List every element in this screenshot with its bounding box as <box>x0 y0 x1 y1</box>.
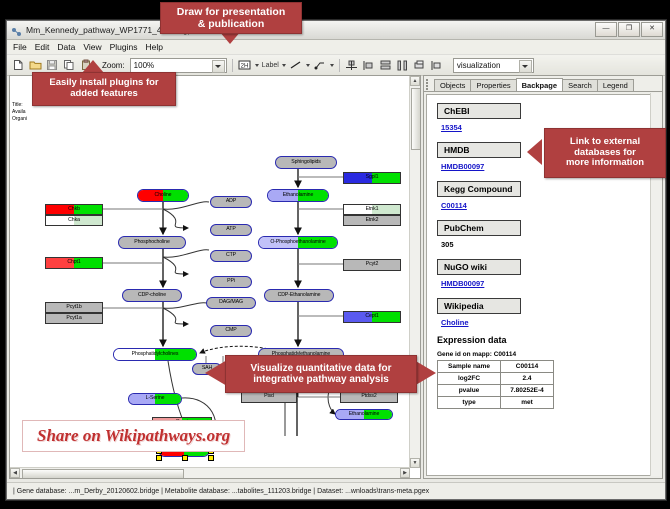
node-label: Sphingolipids <box>291 160 321 165</box>
node-label: CDP-choline <box>138 293 166 298</box>
tab-properties[interactable]: Properties <box>470 79 516 92</box>
node-label: ADP <box>226 199 236 204</box>
horizontal-scroll-thumb[interactable] <box>22 469 184 479</box>
pathway-node-etnk1[interactable]: Etnk1 <box>343 204 401 215</box>
node-label: Pcyt2 <box>366 262 378 267</box>
callout-link: Link to externaldatabases formore inform… <box>544 128 666 178</box>
edge-cofactor-in <box>163 250 209 257</box>
pathway-availability-label: Availa <box>12 109 26 115</box>
node-label: PPi <box>227 279 235 284</box>
callout-visualize: Visualize quantitative data forintegrati… <box>225 355 417 393</box>
order-icon[interactable] <box>430 58 444 72</box>
menu-item-view[interactable]: View <box>83 42 101 52</box>
expr-key-0: Sample name <box>438 361 501 373</box>
pathway-node-l_serine_left[interactable]: L-Serine <box>128 393 182 405</box>
interaction-icon[interactable] <box>313 58 327 72</box>
pathway-node-phosphatidylcholines[interactable]: Phosphatidylcholines <box>113 348 197 361</box>
callout-visualize-arrow-right-icon <box>414 360 436 386</box>
zoom-label: Zoom: <box>102 61 125 70</box>
side-panel-tabs: Objects Properties Backpage Search Legen… <box>424 76 662 92</box>
datanode-icon[interactable]: 2H <box>238 58 252 72</box>
node-label: Ethanolamine <box>283 193 314 198</box>
menu-item-edit[interactable]: Edit <box>35 42 50 52</box>
node-label: L-Serine <box>146 396 165 401</box>
db-link-kegg[interactable]: C00114 <box>441 201 659 210</box>
db-header-chebi: ChEBI <box>437 103 521 119</box>
pathway-node-pcyt2[interactable]: Pcyt2 <box>343 259 401 271</box>
db-header-hmdb: HMDB <box>437 142 521 158</box>
pathway-node-sphingolipids[interactable]: Sphingolipids <box>275 156 337 169</box>
pathway-node-adp[interactable]: ADP <box>210 196 252 208</box>
callout-link-text: Link to externaldatabases formore inform… <box>566 137 644 170</box>
panel-grip[interactable] <box>426 78 430 89</box>
table-row: Sample nameC00114 <box>438 361 554 373</box>
pathway-node-ppi[interactable]: PPi <box>210 276 252 288</box>
label-tool-label[interactable]: Label <box>262 62 279 69</box>
db-value-pubchem: 305 <box>441 240 659 249</box>
db-block-kegg: Kegg Compound C00114 <box>437 179 659 210</box>
menu-item-data[interactable]: Data <box>57 42 75 52</box>
pathway-node-ethanolamine_top[interactable]: Ethanolamine <box>267 189 329 202</box>
node-label: Chkb <box>68 207 80 212</box>
node-label: Ptdss2 <box>361 394 376 399</box>
expression-table: Sample nameC00114 log2FC2.4 pvalue7.8025… <box>437 360 554 409</box>
pathway-node-cept1[interactable]: Cept1 <box>343 311 401 323</box>
pathway-organism-label: Organi <box>12 116 27 122</box>
callout-link-arrow-icon <box>527 139 542 165</box>
pathway-title-label: Title: <box>12 102 23 108</box>
node-label: DAG/MAG <box>219 300 243 305</box>
node-label: Cept1 <box>365 314 378 319</box>
pathway-node-ethanolamine_bottom[interactable]: Ethanolamine <box>335 409 393 420</box>
tab-search[interactable]: Search <box>562 79 598 92</box>
pathway-node-cdp_choline[interactable]: CDP-choline <box>122 289 182 302</box>
datanode-dropdown[interactable] <box>255 64 259 67</box>
edge-cofactor-out <box>163 257 188 274</box>
chevron-down-icon[interactable] <box>212 60 225 73</box>
stack-icon[interactable] <box>379 58 393 72</box>
node-label: Pcyt1a <box>66 316 81 321</box>
edge-cofactor-in <box>163 303 207 309</box>
selection-handle-7[interactable] <box>208 455 214 461</box>
close-button[interactable]: ✕ <box>641 22 663 37</box>
app-icon <box>11 25 22 36</box>
node-label: Choline <box>155 193 172 198</box>
align-center-icon[interactable] <box>345 58 359 72</box>
window-controls: — ❐ ✕ <box>595 22 663 37</box>
callout-visualize-text: Visualize quantitative data forintegrati… <box>251 363 392 386</box>
interaction-dropdown[interactable] <box>330 64 334 67</box>
label-dropdown[interactable] <box>282 64 286 67</box>
menu-item-help[interactable]: Help <box>146 42 163 52</box>
callout-draw-text: Draw for presentation& publication <box>177 6 286 30</box>
selection-handle-5[interactable] <box>156 455 162 461</box>
node-label: Chka <box>68 218 80 223</box>
visualization-combo[interactable]: visualization <box>453 58 534 73</box>
pathway-canvas[interactable]: Title: Availa Organi SphingolipidsEthano… <box>10 76 410 468</box>
node-label: ATP <box>226 227 235 232</box>
pathway-node-cmp[interactable]: CMP <box>210 325 252 337</box>
scroll-up-arrow[interactable]: ▲ <box>410 76 420 86</box>
node-label: Sgpl1 <box>366 175 379 180</box>
menu-item-file[interactable]: File <box>13 42 27 52</box>
zoom-value: 100% <box>134 61 154 70</box>
chevron-down-icon-2[interactable] <box>519 60 532 73</box>
pathway-node-chkb[interactable]: Chkb <box>45 204 103 215</box>
db-link-wikipedia[interactable]: Choline <box>441 318 659 327</box>
db-block-pubchem: PubChem 305 <box>437 218 659 249</box>
edge-cofactor-out <box>163 308 188 324</box>
canvas-vertical-scrollbar[interactable]: ▲ ▼ <box>409 76 420 468</box>
canvas-horizontal-scrollbar[interactable]: ◀ ▶ <box>10 467 410 478</box>
table-row: pvalue7.80252E-4 <box>438 385 554 397</box>
menu-item-plugins[interactable]: Plugins <box>110 42 138 52</box>
pathway-canvas-area[interactable]: Title: Availa Organi SphingolipidsEthano… <box>9 75 421 479</box>
callout-plugins: Easily install plugins foradded features <box>32 72 176 106</box>
db-header-kegg: Kegg Compound <box>437 181 521 197</box>
pathway-node-sgpl1[interactable]: Sgpl1 <box>343 172 401 184</box>
callout-plugins-text: Easily install plugins foradded features <box>49 78 158 100</box>
pathway-node-ctp[interactable]: CTP <box>210 250 252 262</box>
table-row: typemet <box>438 397 554 409</box>
pathway-node-atp[interactable]: ATP <box>210 224 252 236</box>
align-left-icon[interactable] <box>362 58 376 72</box>
visualization-value: visualization <box>457 61 501 70</box>
pathway-node-choline_top[interactable]: Choline <box>137 189 189 202</box>
callout-visualize-arrow-icon <box>205 360 227 386</box>
status-text: | Gene database: ...m_Derby_20120602.bri… <box>7 488 429 495</box>
node-label: O-Phosphoethanolamine <box>270 240 325 245</box>
db-header-pubchem: PubChem <box>437 220 521 236</box>
scroll-left-arrow[interactable]: ◀ <box>10 468 20 478</box>
toolbar-separator <box>232 59 233 72</box>
db-block-wikipedia: Wikipedia Choline <box>437 296 659 327</box>
pathway-node-phosphocholine[interactable]: Phosphocholine <box>118 236 186 249</box>
pathway-node-pcyt1a[interactable]: Pcyt1a <box>45 313 103 324</box>
node-label: Phosphatidylcholines <box>132 352 179 357</box>
expr-val-3: met <box>501 397 554 409</box>
save-icon[interactable] <box>45 58 59 72</box>
toolbar-separator-2 <box>339 59 340 72</box>
edge-cofactor-in <box>163 202 209 209</box>
line-icon[interactable] <box>289 58 303 72</box>
expr-val-0: C00114 <box>501 361 554 373</box>
line-dropdown[interactable] <box>306 64 310 67</box>
selection-handle-6[interactable] <box>182 455 188 461</box>
tab-objects[interactable]: Objects <box>434 79 471 92</box>
tab-backpage[interactable]: Backpage <box>516 78 563 92</box>
status-bar: | Gene database: ...m_Derby_20120602.bri… <box>7 482 665 499</box>
db-block-nugo: NuGO wiki HMDB00097 <box>437 257 659 288</box>
node-label: Etnk2 <box>366 218 379 223</box>
pathway-node-o_phosphoethanolamine[interactable]: O-Phosphoethanolamine <box>258 236 338 249</box>
node-label: Pcyt1b <box>66 305 81 310</box>
edge-cofactor-out <box>163 209 188 228</box>
pathway-node-chpt1[interactable]: Chpt1 <box>45 257 103 269</box>
scroll-down-arrow[interactable]: ▼ <box>410 458 420 468</box>
window-title-bar: Mm_Kennedy_pathway_WP1771_45176.gpml — ❐… <box>7 21 665 40</box>
db-link-nugo[interactable]: HMDB00097 <box>441 279 659 288</box>
db-header-nugo: NuGO wiki <box>437 259 521 275</box>
node-label: Pisd <box>264 394 274 399</box>
distribute-icon[interactable] <box>396 58 410 72</box>
table-row: log2FC2.4 <box>438 373 554 385</box>
expr-val-2: 7.80252E-4 <box>501 385 554 397</box>
pathway-node-pcyt1b[interactable]: Pcyt1b <box>45 302 103 313</box>
callout-draw: Draw for presentation& publication <box>160 2 302 34</box>
svg-text:2H: 2H <box>241 63 249 69</box>
expr-key-2: pvalue <box>438 385 501 397</box>
vertical-scroll-thumb[interactable] <box>411 88 421 150</box>
expression-data-heading: Expression data <box>437 335 659 345</box>
node-label: Chpt1 <box>67 260 80 265</box>
node-label: Etnk1 <box>366 207 379 212</box>
pathway-node-etnk2[interactable]: Etnk2 <box>343 215 401 226</box>
expr-key-3: type <box>438 397 501 409</box>
tab-legend[interactable]: Legend <box>597 79 634 92</box>
expr-val-1: 2.4 <box>501 373 554 385</box>
zoom-combo[interactable]: 100% <box>130 58 227 73</box>
node-label: Phosphocholine <box>134 240 170 245</box>
copy-icon[interactable] <box>62 58 76 72</box>
expr-key-1: log2FC <box>438 373 501 385</box>
pathway-node-cdp_ethanolamine[interactable]: CDP-Ethanolamine <box>264 289 334 302</box>
db-header-wikipedia: Wikipedia <box>437 298 521 314</box>
group-icon[interactable] <box>413 58 427 72</box>
maximize-button[interactable]: ❐ <box>618 22 640 37</box>
open-folder-icon[interactable] <box>28 58 42 72</box>
menu-bar: File Edit Data View Plugins Help <box>7 40 665 55</box>
pathway-node-dagmag[interactable]: DAG/MAG <box>206 297 256 309</box>
callout-share-text: Share on Wikipathways.org <box>37 426 230 445</box>
node-label: CDP-Ethanolamine <box>278 293 321 298</box>
minimize-button[interactable]: — <box>595 22 617 37</box>
screenshot-root: Mm_Kennedy_pathway_WP1771_45176.gpml — ❐… <box>0 0 670 509</box>
scroll-right-arrow[interactable]: ▶ <box>400 468 410 478</box>
new-file-icon[interactable] <box>11 58 25 72</box>
node-label: Ethanolamine <box>349 412 380 417</box>
node-label: CTP <box>226 253 236 258</box>
pathway-node-chka[interactable]: Chka <box>45 215 103 226</box>
callout-share: Share on Wikipathways.org <box>22 420 245 452</box>
node-label: CMP <box>225 328 236 333</box>
gene-id-line: Gene id on mapp: C00114 <box>437 351 659 358</box>
